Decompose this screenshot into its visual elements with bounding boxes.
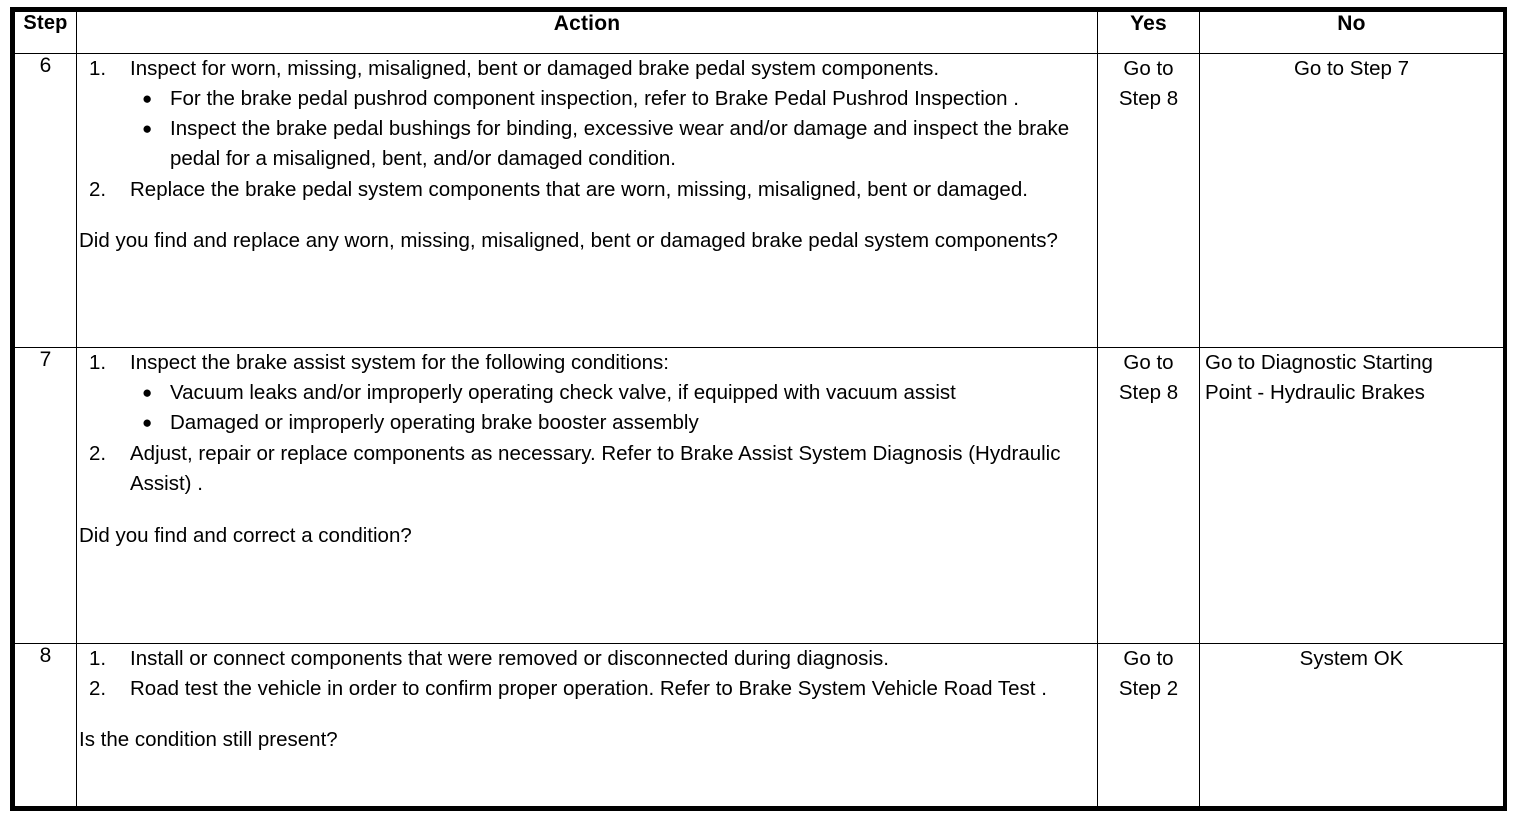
bullet-dot-icon: ● [142, 378, 152, 407]
action-step-item: 2. Road test the vehicle in order to con… [77, 674, 1097, 704]
action-step-text: Replace the brake pedal system component… [130, 175, 1097, 205]
table-body: 6 1. Inspect for worn, missing, misalign… [15, 54, 1504, 807]
action-bullet-text: For the brake pedal pushrod component in… [170, 84, 1097, 114]
action-step-item: 1. Inspect the brake assist system for t… [77, 348, 1097, 438]
bullet-dot-icon: ● [142, 84, 152, 113]
action-content: 1. Install or connect components that we… [77, 644, 1097, 755]
action-step-item: 2. Replace the brake pedal system compon… [77, 175, 1097, 205]
column-header-action: Action [77, 12, 1098, 54]
action-step-text: Adjust, repair or replace components as … [130, 439, 1097, 499]
header-row: Step Action Yes No [15, 12, 1504, 54]
action-content: 1. Inspect for worn, missing, misaligned… [77, 54, 1097, 256]
no-answer-cell: Go to Step 7 [1200, 54, 1504, 348]
action-step-text: Road test the vehicle in order to confir… [130, 674, 1097, 704]
yes-answer-text: Go to Step 2 [1098, 644, 1199, 712]
yes-answer-text: Go to Step 8 [1098, 54, 1199, 122]
no-answer-line-2: Point - Hydraulic Brakes [1205, 378, 1500, 408]
action-bullet-item: ● Inspect the brake pedal bushings for b… [130, 114, 1097, 174]
action-question: Is the condition still present? [77, 725, 1097, 755]
step-number-cell: 8 [15, 643, 77, 806]
table-row: 7 1. Inspect the brake assist system for… [15, 348, 1504, 644]
table-row: 6 1. Inspect for worn, missing, misalign… [15, 54, 1504, 348]
yes-answer-line-2: Step 8 [1098, 378, 1199, 408]
action-cell: 1. Install or connect components that we… [77, 643, 1098, 806]
diagnostic-step-table: Step Action Yes No 6 1. Inspect for worn… [14, 11, 1504, 807]
action-step-list: 1. Inspect for worn, missing, misaligned… [77, 54, 1097, 205]
yes-answer-line-2: Step 2 [1098, 674, 1199, 704]
action-bullet-text: Vacuum leaks and/or improperly operating… [170, 378, 1097, 408]
action-step-text: Inspect for worn, missing, misaligned, b… [130, 54, 1097, 84]
action-step-number: 1. [89, 348, 121, 378]
column-header-no: No [1200, 12, 1504, 54]
diagnostic-table-container: Step Action Yes No 6 1. Inspect for worn… [10, 7, 1507, 811]
action-bullet-item: ● Vacuum leaks and/or improperly operati… [130, 378, 1097, 408]
bullet-dot-icon: ● [142, 408, 152, 437]
action-cell: 1. Inspect the brake assist system for t… [77, 348, 1098, 644]
yes-answer-cell: Go to Step 8 [1098, 54, 1200, 348]
action-bullet-item: ● Damaged or improperly operating brake … [130, 408, 1097, 438]
yes-answer-cell: Go to Step 8 [1098, 348, 1200, 644]
no-answer-line-1: Go to Diagnostic Starting [1205, 348, 1500, 378]
action-step-text: Install or connect components that were … [130, 644, 1097, 674]
action-step-item: 1. Install or connect components that we… [77, 644, 1097, 674]
column-header-step: Step [15, 12, 77, 54]
table-row: 8 1. Install or connect components that … [15, 643, 1504, 806]
no-answer-text: Go to Diagnostic Starting Point - Hydrau… [1200, 348, 1503, 416]
yes-answer-line-2: Step 8 [1098, 84, 1199, 114]
action-step-text: Inspect the brake assist system for the … [130, 348, 1097, 378]
action-content: 1. Inspect the brake assist system for t… [77, 348, 1097, 551]
action-bullet-text: Inspect the brake pedal bushings for bin… [170, 114, 1097, 174]
action-cell: 1. Inspect for worn, missing, misaligned… [77, 54, 1098, 348]
yes-answer-line-1: Go to [1098, 54, 1199, 84]
action-step-list: 1. Inspect the brake assist system for t… [77, 348, 1097, 499]
step-number-cell: 6 [15, 54, 77, 348]
action-bullet-text: Damaged or improperly operating brake bo… [170, 408, 1097, 438]
yes-answer-line-1: Go to [1098, 644, 1199, 674]
action-step-number: 1. [89, 54, 121, 84]
table-header: Step Action Yes No [15, 12, 1504, 54]
action-question: Did you find and correct a condition? [77, 521, 1097, 551]
no-answer-line-1: System OK [1200, 644, 1503, 674]
no-answer-text: Go to Step 7 [1200, 54, 1503, 93]
action-bullet-list: ● Vacuum leaks and/or improperly operati… [130, 378, 1097, 438]
yes-answer-cell: Go to Step 2 [1098, 643, 1200, 806]
no-answer-line-1: Go to Step 7 [1200, 54, 1503, 84]
yes-answer-text: Go to Step 8 [1098, 348, 1199, 416]
action-step-number: 1. [89, 644, 121, 674]
action-bullet-list: ● For the brake pedal pushrod component … [130, 84, 1097, 174]
action-step-number: 2. [89, 439, 121, 469]
yes-answer-line-1: Go to [1098, 348, 1199, 378]
column-header-yes: Yes [1098, 12, 1200, 54]
bullet-dot-icon: ● [142, 114, 152, 143]
action-question: Did you find and replace any worn, missi… [77, 226, 1097, 256]
no-answer-cell: Go to Diagnostic Starting Point - Hydrau… [1200, 348, 1504, 644]
action-step-number: 2. [89, 175, 121, 205]
action-step-item: 2. Adjust, repair or replace components … [77, 439, 1097, 499]
action-bullet-item: ● For the brake pedal pushrod component … [130, 84, 1097, 114]
action-step-item: 1. Inspect for worn, missing, misaligned… [77, 54, 1097, 175]
action-step-number: 2. [89, 674, 121, 704]
action-step-list: 1. Install or connect components that we… [77, 644, 1097, 704]
no-answer-cell: System OK [1200, 643, 1504, 806]
no-answer-text: System OK [1200, 644, 1503, 683]
step-number-cell: 7 [15, 348, 77, 644]
